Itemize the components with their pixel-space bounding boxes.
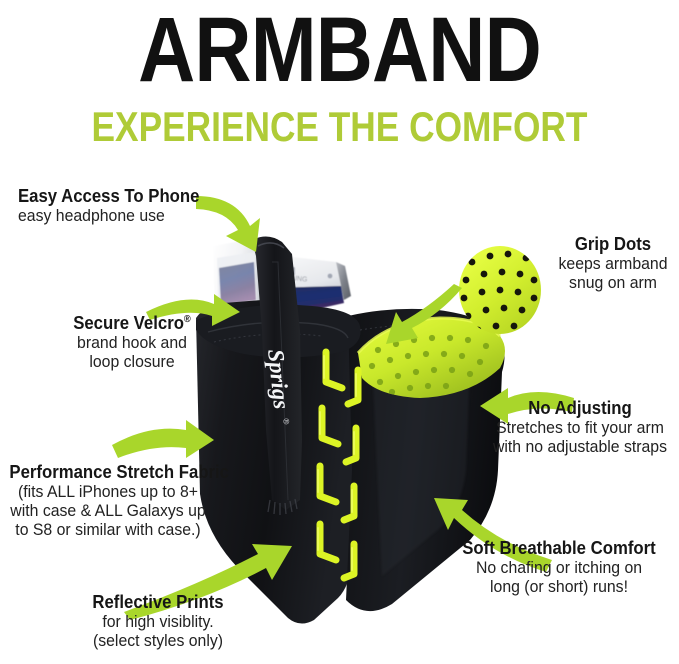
reflective-prints-highlight [318, 356, 356, 570]
callout-no-adjusting: No Adjusting Stretches to fit your arm w… [482, 398, 678, 456]
infographic-canvas: ARMBAND EXPERIENCE THE COMFORT [0, 0, 679, 664]
reflective-prints [320, 352, 358, 578]
armband-top-seam [196, 305, 361, 358]
callout-no-adjusting-heading: No Adjusting [489, 398, 671, 418]
brand-logo: Sprigs ® [263, 348, 296, 426]
svg-text:®: ® [281, 418, 291, 425]
callout-secure-velcro: Secure Velcro® brand hook and loop closu… [52, 310, 212, 371]
callout-performance-fabric-body-0: (fits ALL iPhones up to 8+ [9, 482, 206, 501]
registered-trademark-icon: ® [184, 314, 191, 325]
interior-lining [358, 318, 505, 398]
callout-performance-fabric-heading: Performance Stretch Fabric [9, 462, 206, 482]
stitching [214, 325, 500, 352]
callout-soft-comfort-heading: Soft Breathable Comfort [450, 538, 668, 558]
callout-grip-dots-body-1: snug on arm [553, 273, 674, 292]
phone-rear: SAMSUNG [258, 253, 351, 322]
callout-secure-velcro-heading: Secure Velcro® [58, 310, 207, 333]
callout-grip-dots-heading: Grip Dots [553, 234, 674, 254]
callout-secure-velcro-body-0: brand hook and [58, 333, 207, 352]
velcro-fray [268, 499, 297, 515]
callout-secure-velcro-body-1: loop closure [58, 352, 207, 371]
velcro-strap [252, 236, 302, 515]
arrow-performance-fabric [112, 420, 214, 458]
callout-easy-access-heading: Easy Access To Phone [18, 186, 199, 206]
callout-grip-dots-body-0: keeps armband [553, 254, 674, 273]
callout-reflective-prints-body-0: for high visiblity. [84, 612, 233, 631]
grip-dots-swatch [459, 246, 541, 334]
callout-reflective-prints-body-1: (select styles only) [84, 631, 233, 650]
callout-reflective-prints: Reflective Prints for high visiblity. (s… [78, 592, 238, 650]
callout-performance-fabric: Performance Stretch Fabric (fits ALL iPh… [2, 462, 214, 539]
arrow-grip-dots [386, 284, 462, 344]
callout-performance-fabric-body-1: with case & ALL Galaxys up [9, 501, 206, 520]
svg-text:SAMSUNG: SAMSUNG [272, 273, 308, 284]
callout-soft-comfort: Soft Breathable Comfort No chafing or it… [442, 538, 676, 596]
callout-secure-velcro-heading-text: Secure Velcro [73, 313, 184, 333]
page-subtitle: EXPERIENCE THE COMFORT [54, 104, 624, 150]
callout-no-adjusting-body-0: Stretches to fit your arm [489, 418, 671, 437]
page-title: ARMBAND [48, 2, 632, 98]
callout-grip-dots: Grip Dots keeps armband snug on arm [548, 234, 678, 292]
callout-soft-comfort-body-0: No chafing or itching on [450, 558, 668, 577]
callout-easy-access-body-0: easy headphone use [18, 206, 199, 225]
phone-front [213, 238, 262, 336]
callout-no-adjusting-body-1: with no adjustable straps [489, 437, 671, 456]
callout-performance-fabric-body-2: to S8 or similar with case.) [9, 520, 206, 539]
brand-logo-text: Sprigs [263, 348, 294, 410]
interior-grip-dots [369, 335, 489, 395]
callout-reflective-prints-heading: Reflective Prints [84, 592, 233, 612]
callout-easy-access: Easy Access To Phone easy headphone use [18, 186, 213, 225]
callout-soft-comfort-body-1: long (or short) runs! [450, 577, 668, 596]
